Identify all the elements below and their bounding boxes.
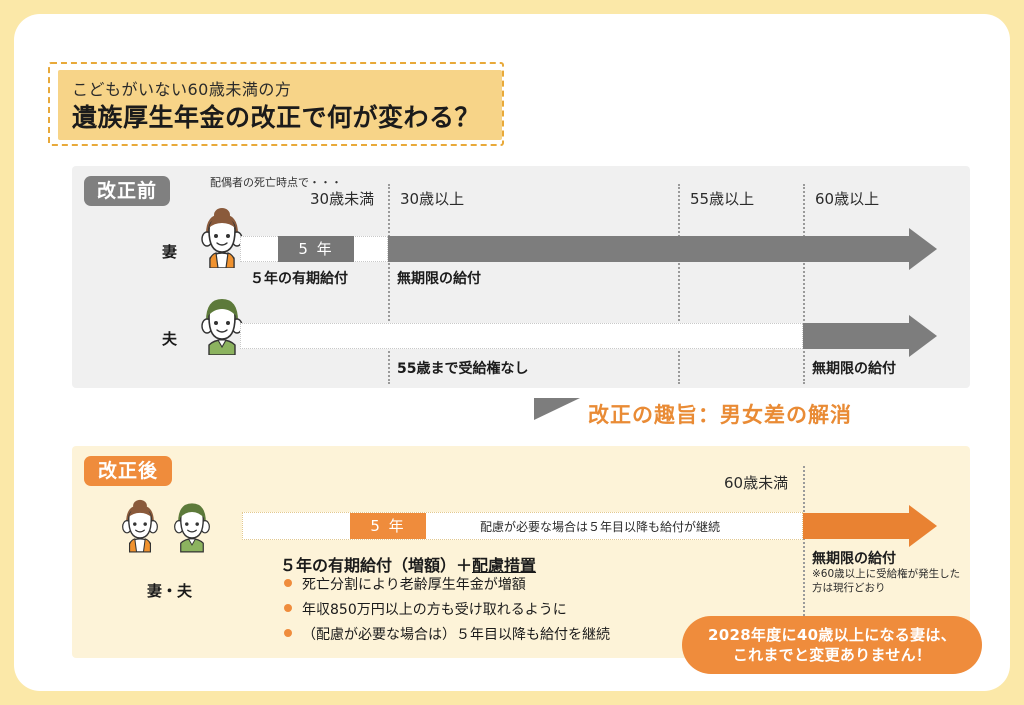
after-heading-plain: ５年の有期給付（増額）＋ <box>280 556 472 575</box>
tick-label-over55: 55歳以上 <box>690 188 754 209</box>
after-heading-underline: 配慮措置 <box>472 556 536 575</box>
reform-purpose-text: 改正の趣旨：男女差の解消 <box>588 399 852 429</box>
man-avatar-icon-after <box>166 496 218 558</box>
callout-badge: 2028年度に40歳以上になる妻は、 これまでと変更ありません！ <box>682 616 982 674</box>
tick-label-under60: 60歳未満 <box>724 472 788 493</box>
husband-unlimited-arrow-head <box>909 315 937 357</box>
wife-caption-left: ５年の有期給付 <box>250 268 348 288</box>
after-heading: ５年の有期給付（増額）＋配慮措置 <box>280 552 536 576</box>
after-unlimited-arrow-head <box>909 505 937 547</box>
list-item: 死亡分割により老齢厚生年金が増額 <box>284 574 610 594</box>
husband-caption-left: 55歳まで受給権なし <box>397 358 528 378</box>
divider-age30 <box>388 184 390 384</box>
after-bar-note: 配慮が必要な場合は５年目以降も給付が継続 <box>480 518 720 535</box>
after-unlimited-arrow-body <box>803 513 909 539</box>
wife-unlimited-arrow-head <box>909 228 937 270</box>
page-subtitle: こどもがいない60歳未満の方 <box>72 76 291 100</box>
page-frame: こどもがいない60歳未満の方 遺族厚生年金の改正で何が変わる？ 改正前 配偶者の… <box>14 14 1010 691</box>
husband-noentitlement-bar <box>240 323 803 349</box>
callout-line2: これまでと変更ありません！ <box>682 645 982 665</box>
after-caption-right: 無期限の給付 <box>812 548 896 568</box>
after-small-note: ※60歳以上に受給権が発生した方は現行どおり <box>812 568 962 595</box>
row-label-husband: 夫 <box>162 328 177 349</box>
after-badge: 改正後 <box>84 456 172 486</box>
wife-5year-segment: 5 年 <box>278 236 354 262</box>
before-badge: 改正前 <box>84 176 170 206</box>
divider-age55 <box>678 184 680 384</box>
page-title: こどもがいない60歳未満の方 遺族厚生年金の改正で何が変わる？ <box>58 70 502 140</box>
down-triangle-icon <box>534 398 580 420</box>
wife-caption-right: 無期限の給付 <box>397 268 481 288</box>
after-5year-segment: 5 年 <box>350 513 426 539</box>
list-item: （配慮が必要な場合は）５年目以降も給付を継続 <box>284 624 610 644</box>
husband-caption-right: 無期限の給付 <box>812 358 896 378</box>
tick-label-over60: 60歳以上 <box>815 188 879 209</box>
tick-label-over30: 30歳以上 <box>400 188 464 209</box>
woman-avatar-icon-after <box>114 496 166 558</box>
callout-line1: 2028年度に40歳以上になる妻は、 <box>682 625 982 645</box>
tick-label-under30: 30歳未満 <box>310 188 374 209</box>
wife-unlimited-arrow-body <box>388 236 909 262</box>
husband-unlimited-arrow-body <box>803 323 909 349</box>
page-title-main: 遺族厚生年金の改正で何が変わる？ <box>72 98 480 134</box>
row-label-couple: 妻・夫 <box>147 580 192 601</box>
after-bullet-list: 死亡分割により老齢厚生年金が増額 年収850万円以上の方も受け取れるように （配… <box>284 574 610 649</box>
list-item: 年収850万円以上の方も受け取れるように <box>284 599 610 619</box>
row-label-wife: 妻 <box>162 241 177 262</box>
divider-age60 <box>803 184 805 384</box>
